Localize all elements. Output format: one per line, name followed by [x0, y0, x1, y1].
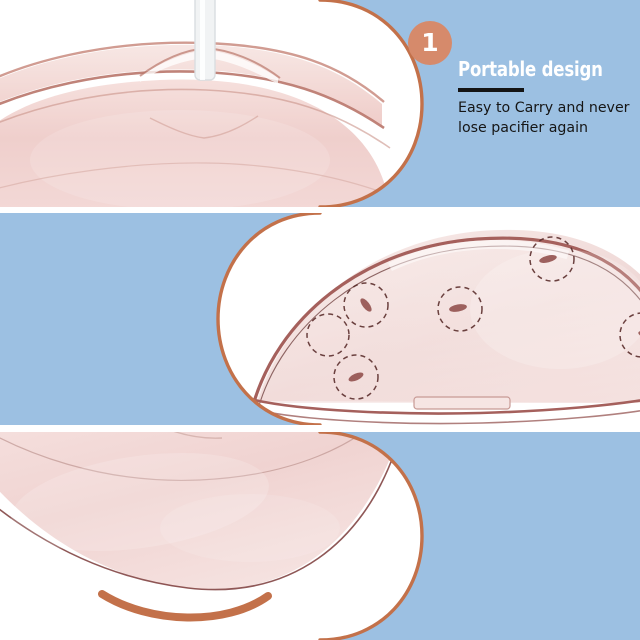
panel-1-title: Portable design — [458, 58, 620, 81]
feature-panel-2: 2 Extending Buckle Design Made it more f… — [0, 213, 640, 425]
panel-2-photo-svg — [180, 213, 640, 425]
panel-divider-2 — [0, 425, 640, 432]
panel-3-product-photo — [0, 432, 460, 640]
step-badge-1: 1 — [408, 21, 452, 65]
product-feature-infographic: 1 Portable design Easy to Carry and neve… — [0, 0, 640, 640]
panel-1-body: Easy to Carry and never lose pacifier ag… — [458, 99, 634, 138]
panel-3-photo-svg — [0, 432, 460, 640]
panel-1-text-block: Portable design Easy to Carry and never … — [458, 58, 634, 138]
panel-1-product-photo — [0, 0, 460, 207]
panel-1-photo-svg — [0, 0, 460, 207]
panel-divider-1 — [0, 207, 640, 213]
feature-panel-3: 3 Egg shell design The design principle … — [0, 432, 640, 640]
panel-1-rule — [458, 88, 524, 92]
feature-panel-1: 1 Portable design Easy to Carry and neve… — [0, 0, 640, 207]
panel-2-product-photo — [180, 213, 640, 425]
